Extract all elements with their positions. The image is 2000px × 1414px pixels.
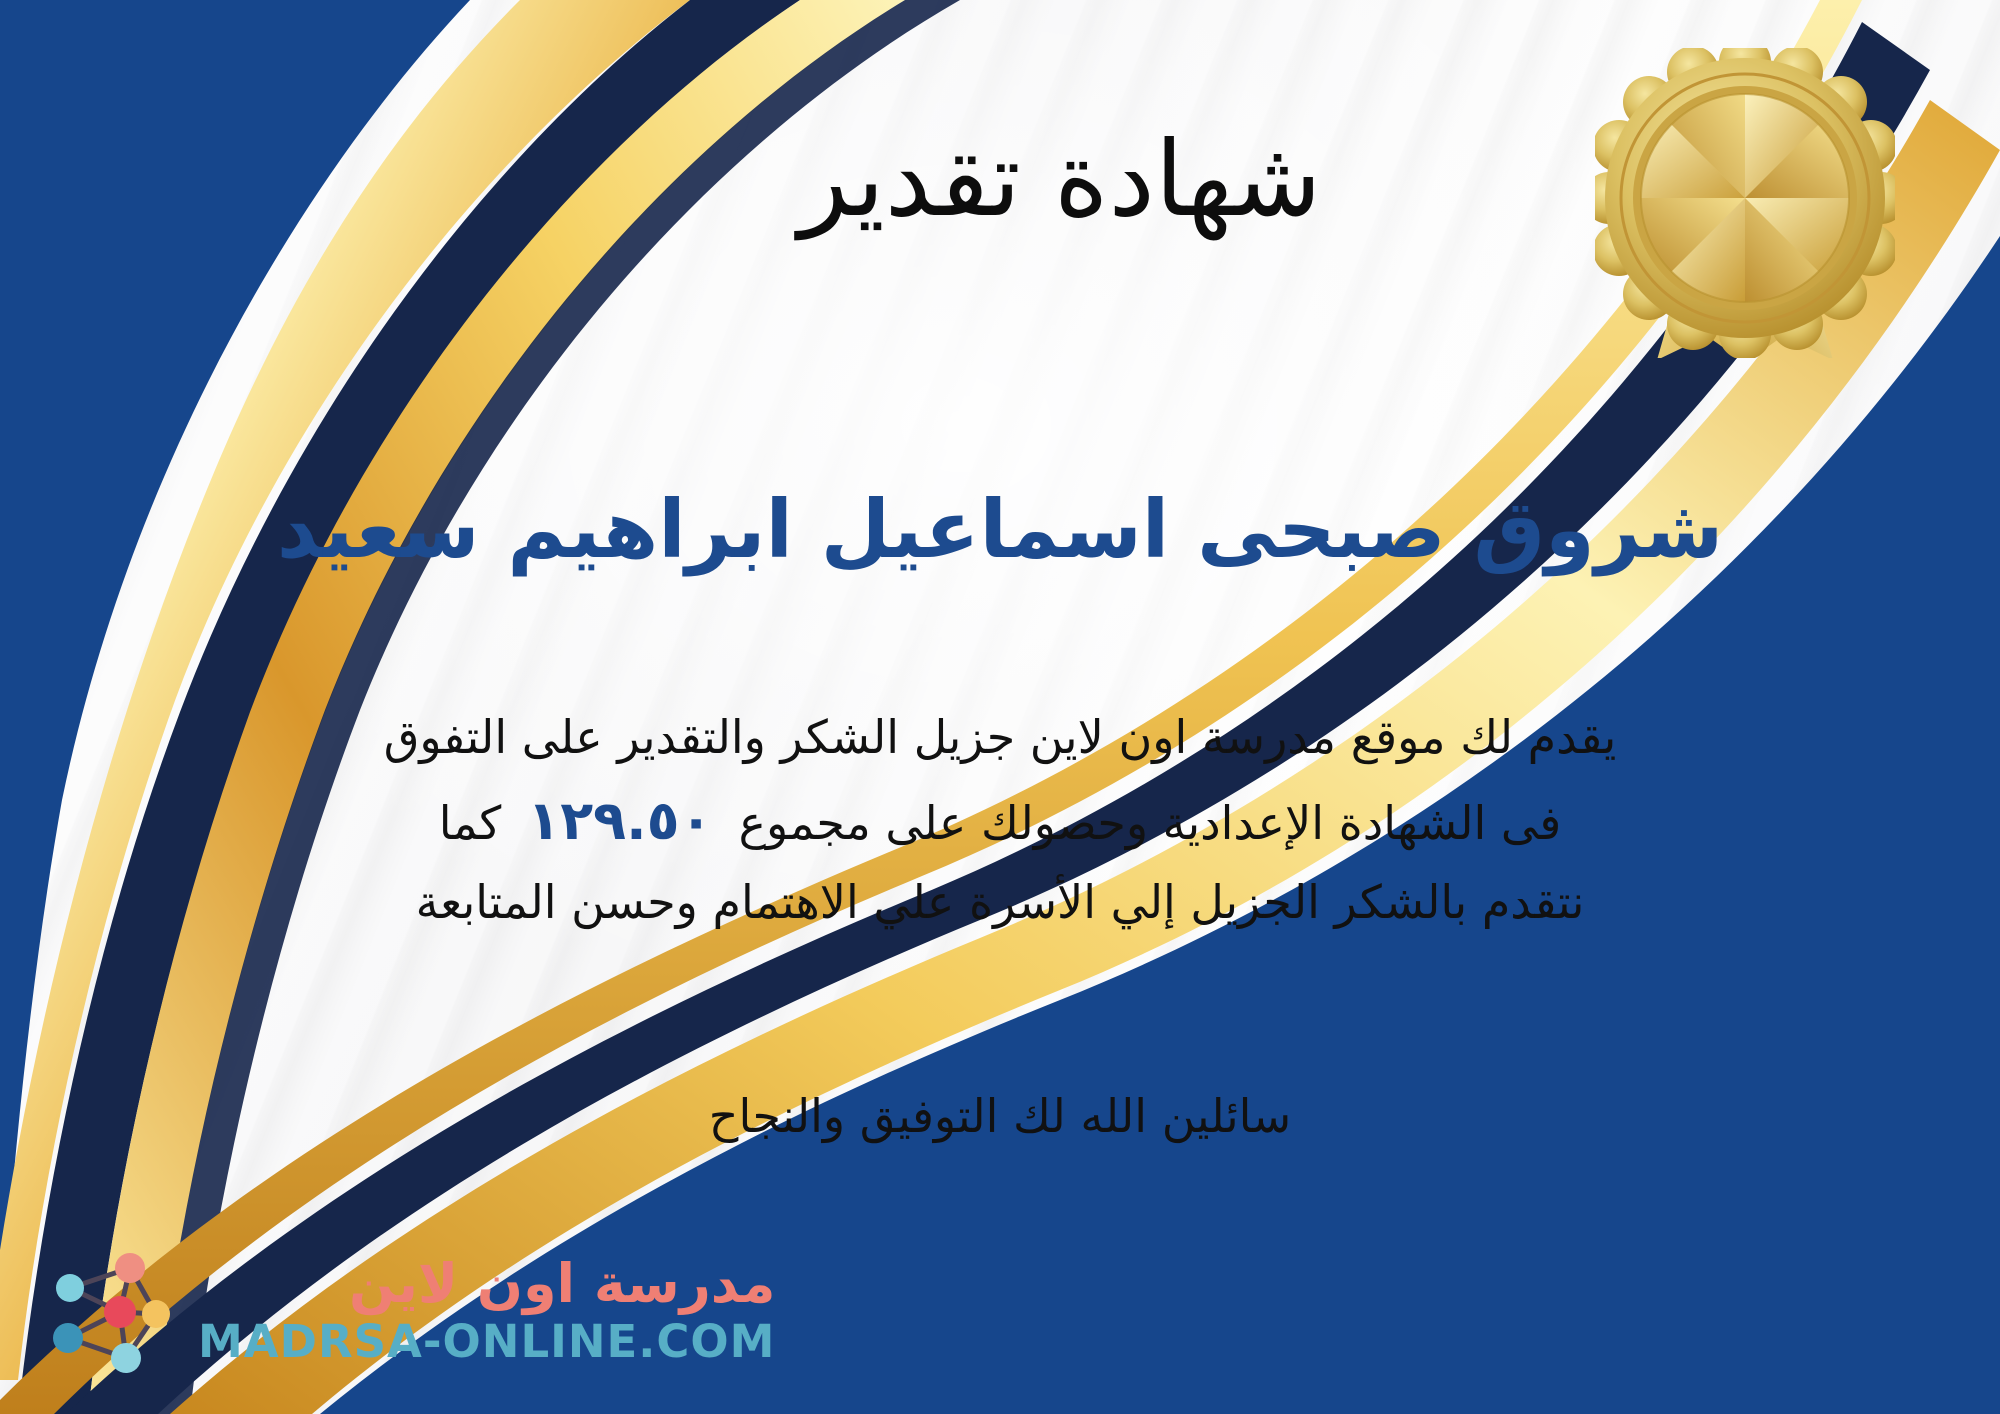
brand-arabic-name: مدرسة اون لاين: [349, 1257, 775, 1311]
body-line-3: نتقدم بالشكر الجزيل إلي الأسرة علي الاهت…: [150, 865, 1850, 941]
body-line-2-suffix: كما: [439, 796, 502, 850]
brand-logo[interactable]: مدرسة اون لاين MADRSA-ONLINE.COM: [34, 1240, 775, 1380]
gold-award-rosette-icon: [1595, 48, 1895, 358]
total-grade-value: ١٢٩.٥٠: [501, 789, 738, 852]
brand-wordmark: مدرسة اون لاين MADRSA-ONLINE.COM: [198, 1257, 775, 1364]
body-line-2-prefix: فى الشهادة الإعدادية وحصولك على مجموع: [739, 796, 1562, 850]
recipient-name: شروق صبحى اسماعيل ابراهيم سعيد: [0, 480, 2000, 580]
certificate-body: يقدم لك موقع مدرسة اون لاين جزيل الشكر و…: [150, 700, 1850, 941]
closing-wish-line: سائلين الله لك التوفيق والنجاح: [150, 1080, 1850, 1154]
body-line-1: يقدم لك موقع مدرسة اون لاين جزيل الشكر و…: [150, 700, 1850, 776]
body-line-2: فى الشهادة الإعدادية وحصولك على مجموع١٢٩…: [150, 776, 1850, 865]
network-nodes-icon: [34, 1240, 184, 1380]
certificate-page: شهادة تقدير شروق صبحى اسماعيل ابراهيم سع…: [0, 0, 2000, 1414]
brand-website: MADRSA-ONLINE.COM: [198, 1319, 775, 1364]
